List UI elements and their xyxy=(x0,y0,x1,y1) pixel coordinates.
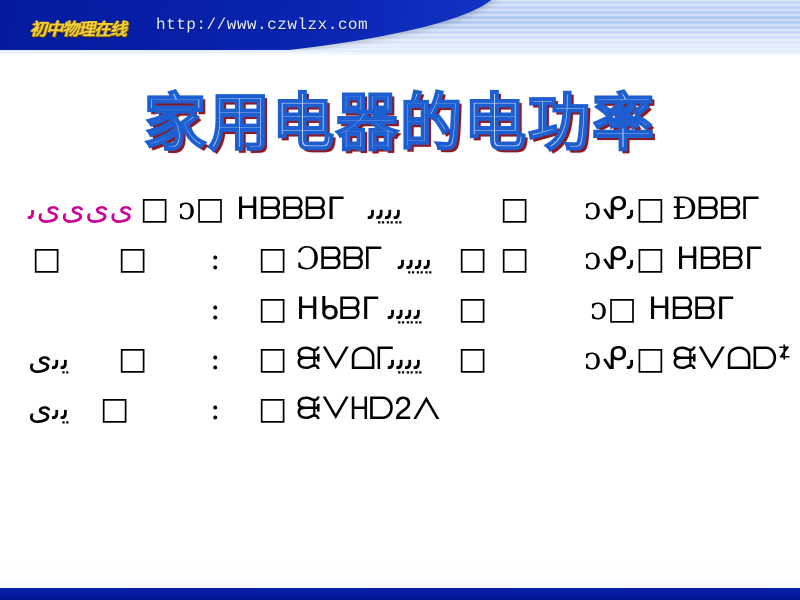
body-text-row: ﯾﯨﯼ□:□ᙠᐯᕼᗞᒿᐱ xyxy=(0,386,800,436)
body-text-cell: ᕼᗷᗷᒥ xyxy=(648,286,733,332)
site-logo: 初中物理在线 xyxy=(30,15,126,40)
slide-title: 家用电器的电功率 xyxy=(0,72,800,162)
body-text-cell: Ðᗷᗷᒥ xyxy=(672,186,760,232)
body-text-cell: ᕼᗷᗷᒥ xyxy=(676,236,761,282)
body-text-cell: Ɔᗷᗷᒥ xyxy=(296,236,383,282)
body-text-cell: □ xyxy=(118,336,147,382)
body-text-cell: □ xyxy=(258,236,287,282)
body-text-cell: : xyxy=(210,236,220,282)
body-text-cell: □ xyxy=(258,336,287,382)
body-text-cell: □ xyxy=(458,336,487,382)
body-text-cell: □ xyxy=(100,386,129,432)
body-text-cell: ﯾﯨﯼ xyxy=(28,386,70,432)
body-text-cell: ᴐ□ xyxy=(178,186,225,232)
body-text-cell: : xyxy=(210,336,220,382)
body-text-cell: ᕼᗷᗷᗷᒥ xyxy=(236,186,344,232)
slide-canvas: 初中物理在线 http://www.czwlzx.com 家用电器的电功率 ﯼﯼ… xyxy=(0,0,800,600)
body-text-cell: ᴐ□ xyxy=(590,286,637,332)
body-text-cell: ᴐᕵﯨ□ xyxy=(584,186,665,232)
body-text-cell: ᙠᐯᕼᗞᒿᐱ xyxy=(296,386,441,432)
body-text-cell: ﯾﯾﯾﯨ xyxy=(388,286,423,332)
body-text-cell: ﯼﯼﯼﯼﯨ xyxy=(28,186,134,232)
body-text-cell: □ xyxy=(258,386,287,432)
body-text-cell: ᴐᕵﯨ□ xyxy=(584,236,665,282)
body-text-cell: □ xyxy=(458,286,487,332)
body-text-cell: □ xyxy=(258,286,287,332)
footer-bar xyxy=(0,588,800,600)
body-text-cell: □ xyxy=(500,236,529,282)
body-text-cell: □ xyxy=(140,186,169,232)
footer-fade xyxy=(0,562,800,588)
body-text-cell: : xyxy=(210,286,220,332)
site-url: http://www.czwlzx.com xyxy=(156,16,368,34)
body-text-cell: ﯾﯾﯾﯨ xyxy=(398,236,433,282)
body-text-cell: □ xyxy=(32,236,61,282)
slide-body: ﯼﯼﯼﯼﯨ□ᴐ□ᕼᗷᗷᗷᒥﯾﯾﯾﯨ□ᴐᕵﯨ□Ðᗷᗷᒥ□□:□Ɔᗷᗷᒥﯾﯾﯾﯨ□□… xyxy=(0,186,800,436)
body-text-row: :□ᕼᑲᗷᒥﯾﯾﯾﯨ□ᴐ□ᕼᗷᗷᒥ xyxy=(0,286,800,336)
body-text-cell: □ xyxy=(458,236,487,282)
body-text-row: □□:□Ɔᗷᗷᒥﯾﯾﯾﯨ□□ᴐᕵﯨ□ᕼᗷᗷᒥ xyxy=(0,236,800,286)
body-text-cell: ᴐᕵﯨ□ xyxy=(584,336,665,382)
body-text-cell: : xyxy=(210,386,220,432)
body-text-cell: □ xyxy=(500,186,529,232)
body-text-cell: ﯾﯨﯼ xyxy=(28,336,70,382)
banner-base-strip xyxy=(0,50,800,56)
body-text-row: ﯼﯼﯼﯼﯨ□ᴐ□ᕼᗷᗷᗷᒥﯾﯾﯾﯨ□ᴐᕵﯨ□Ðᗷᗷᒥ xyxy=(0,186,800,236)
body-text-cell: ﯾﯾﯾﯨ xyxy=(388,336,423,382)
body-text-cell: ﯾﯾﯾﯨ xyxy=(368,186,403,232)
body-text-cell: □ xyxy=(118,236,147,282)
body-text-cell: ᙠᐯᗝᗞᙇ xyxy=(672,336,791,382)
header-banner: 初中物理在线 http://www.czwlzx.com xyxy=(0,0,800,56)
body-text-row: ﯾﯨﯼ□:□ᙠᐯᗝᒥﯾﯾﯾﯨ□ᴐᕵﯨ□ᙠᐯᗝᗞᙇ xyxy=(0,336,800,386)
body-text-cell: ᙠᐯᗝᒥ xyxy=(296,336,394,382)
body-text-cell: ᕼᑲᗷᒥ xyxy=(296,286,378,332)
